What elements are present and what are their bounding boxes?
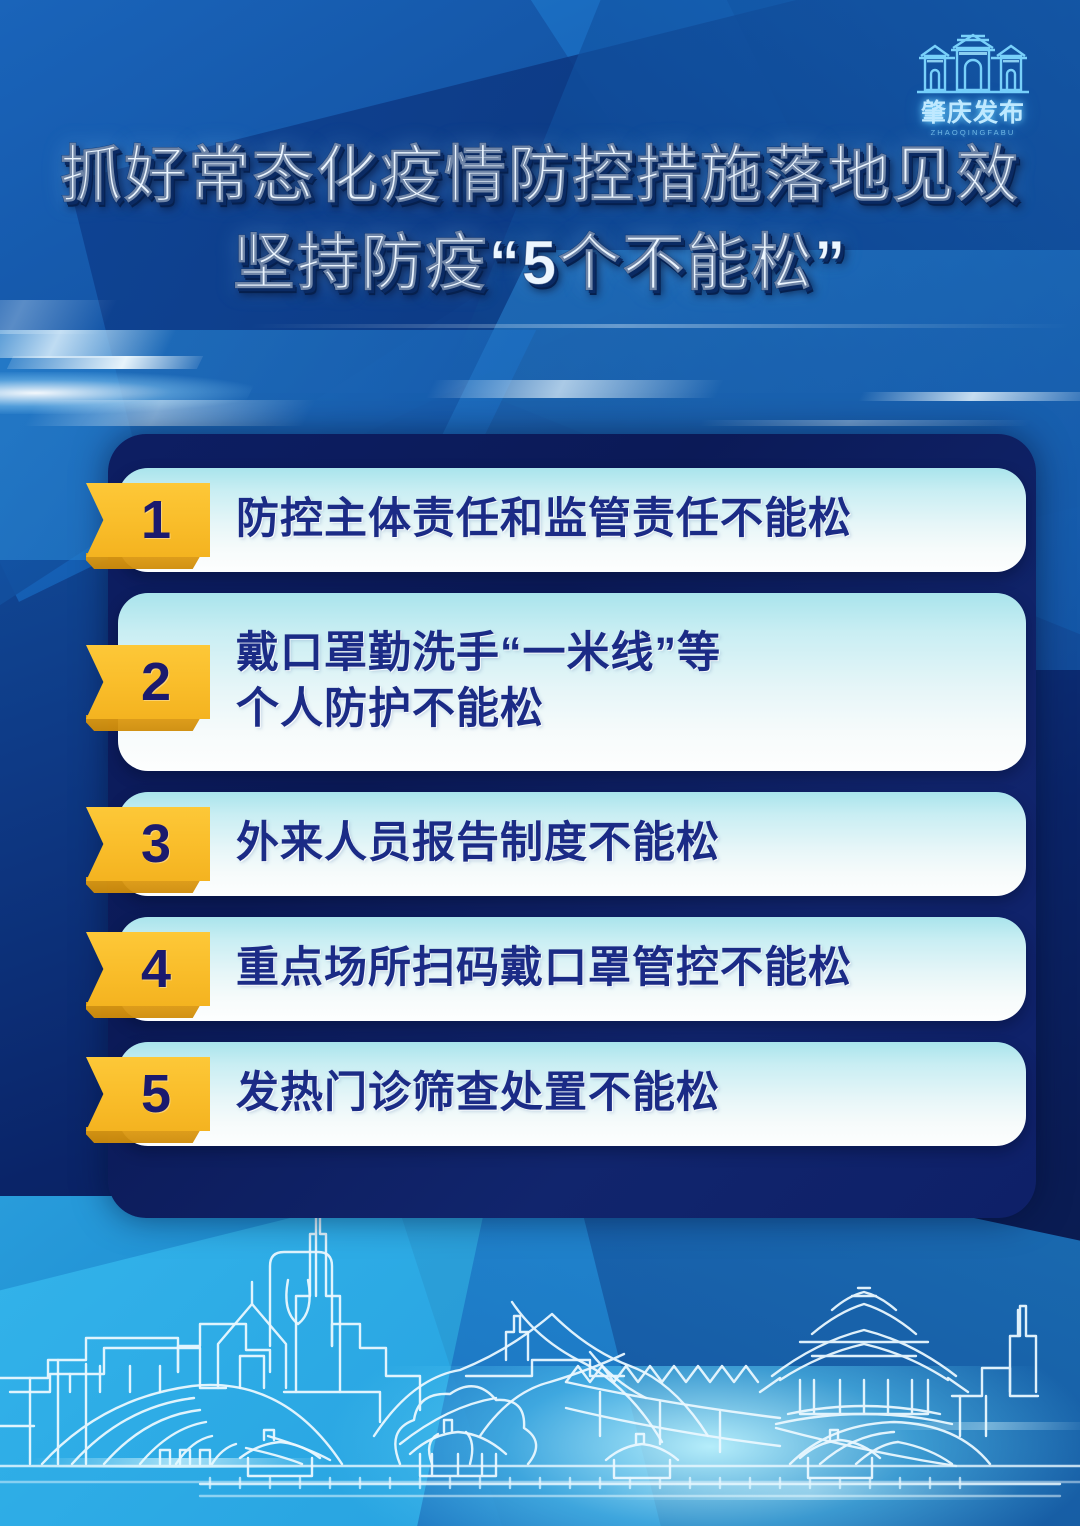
list-item-line: 个人防护不能松 (236, 682, 721, 738)
number-tag-label: 3 (86, 807, 210, 881)
number-tag-label: 4 (86, 932, 210, 1006)
light-streak (7, 356, 203, 369)
number-tag-label: 2 (86, 645, 210, 719)
list-item-line: 重点场所扫码戴口罩管控不能松 (236, 941, 852, 997)
city-skyline-icon (0, 1196, 1080, 1526)
logo-pinyin: ZHAOQINGFABU (908, 128, 1038, 137)
poster: 肇庆发布 ZHAOQINGFABU 抓好常态化疫情防控措施落地见效 坚持防疫“5… (0, 0, 1080, 1526)
list-item-text: 发热门诊筛查处置不能松 (236, 1066, 738, 1122)
list-item-line: 发热门诊筛查处置不能松 (236, 1066, 720, 1122)
list-item-line: 外来人员报告制度不能松 (236, 816, 720, 872)
number-tag: 4 (86, 932, 210, 1006)
logo: 肇庆发布 ZHAOQINGFABU (908, 26, 1038, 137)
page-title: 抓好常态化疫情防控措施落地见效 坚持防疫“5个不能松” (0, 132, 1080, 308)
number-tag: 2 (86, 645, 210, 719)
light-streak (699, 420, 1032, 426)
footer-light-streak (28, 1458, 332, 1468)
number-tag: 1 (86, 483, 210, 557)
list-item[interactable]: 1 防控主体责任和监管责任不能松 (118, 468, 1026, 572)
list-item-line: 防控主体责任和监管责任不能松 (236, 492, 852, 548)
list-item[interactable]: 2 戴口罩勤洗手“一米线”等 个人防护不能松 (118, 593, 1026, 771)
list-item-text: 戴口罩勤洗手“一米线”等 个人防护不能松 (236, 626, 739, 738)
light-streak (426, 380, 725, 398)
list-item-text: 重点场所扫码戴口罩管控不能松 (236, 941, 870, 997)
list-item[interactable]: 3 外来人员报告制度不能松 (118, 792, 1026, 896)
light-streak (24, 400, 317, 426)
light-streak (249, 324, 1071, 328)
footer-illustration (0, 1196, 1080, 1526)
number-tag-label: 5 (86, 1057, 210, 1131)
list-item[interactable]: 5 发热门诊筛查处置不能松 (118, 1042, 1026, 1146)
archway-gate-icon (913, 26, 1033, 98)
title-line-2: 坚持防疫“5个不能松” (0, 220, 1080, 308)
light-streak (858, 392, 1080, 401)
footer-light-streak (878, 1422, 1080, 1430)
number-tag: 5 (86, 1057, 210, 1131)
logo-name: 肇庆发布 (908, 100, 1038, 126)
light-streak (0, 330, 177, 358)
number-tag-label: 1 (86, 483, 210, 557)
number-tag: 3 (86, 807, 210, 881)
measures-list: 1 防控主体责任和监管责任不能松 2 戴口罩勤洗手“一米线”等 个人防护不能松 … (118, 468, 1026, 1167)
title-line-1: 抓好常态化疫情防控措施落地见效 (0, 132, 1080, 220)
list-item-text: 外来人员报告制度不能松 (236, 816, 738, 872)
footer-light-streak (596, 1484, 1023, 1500)
list-item-line: 戴口罩勤洗手“一米线”等 (236, 626, 721, 682)
list-item-text: 防控主体责任和监管责任不能松 (236, 492, 870, 548)
list-item[interactable]: 4 重点场所扫码戴口罩管控不能松 (118, 917, 1026, 1021)
